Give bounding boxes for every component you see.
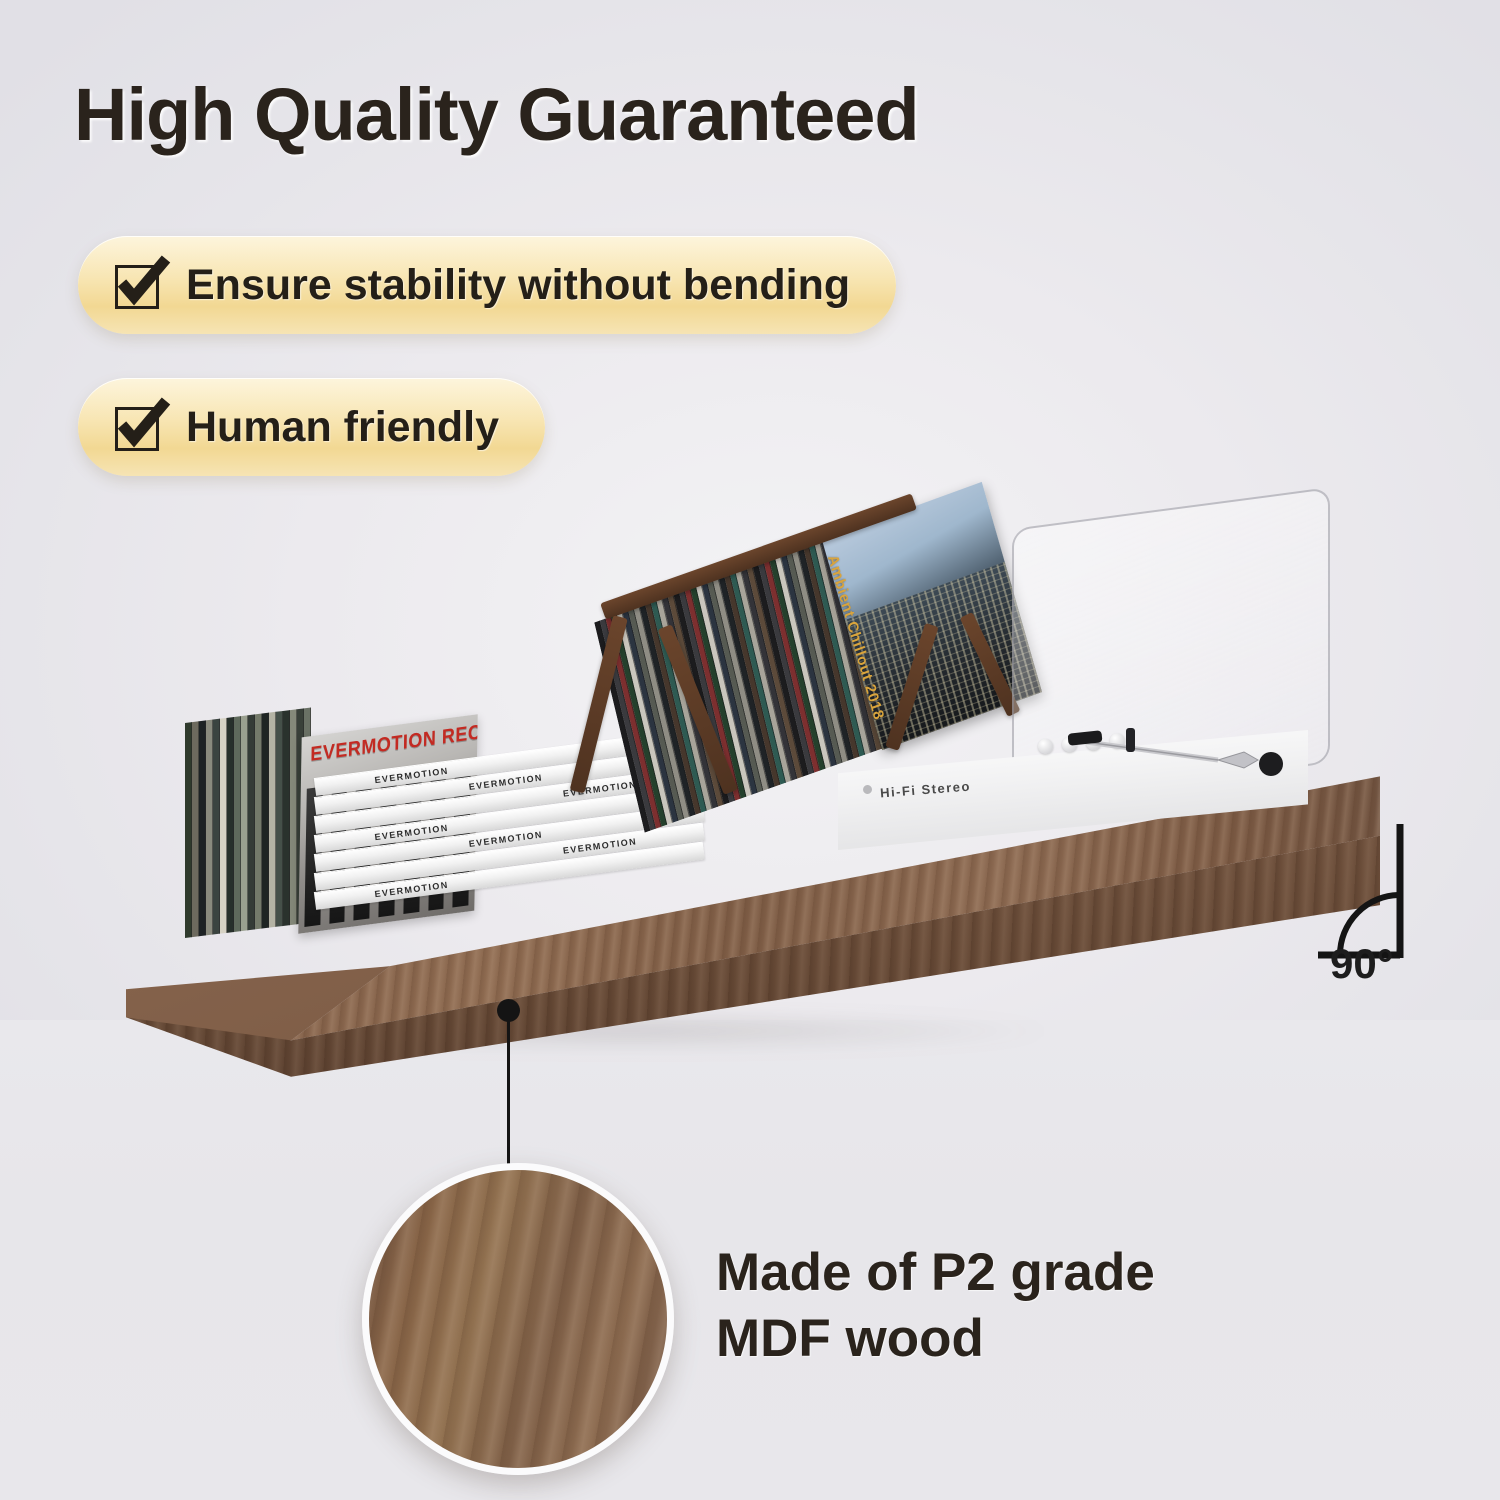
vinyl-sleeve xyxy=(283,710,290,926)
tonearm-icon xyxy=(1068,712,1298,782)
feature-badge-stability: Ensure stability without bending xyxy=(78,236,896,334)
checkbox-checked-icon xyxy=(112,259,164,311)
vinyl-sleeve xyxy=(290,709,297,925)
vinyl-sleeve xyxy=(199,720,206,936)
vinyl-sleeve xyxy=(213,719,220,935)
callout-caption-line-2: MDF wood xyxy=(716,1306,1155,1372)
vinyl-sleeve xyxy=(227,717,234,933)
vinyl-sleeve xyxy=(192,721,199,937)
vinyl-sleeve xyxy=(206,720,213,936)
vinyl-sleeve xyxy=(248,714,255,930)
feature-badge-label: Ensure stability without bending xyxy=(186,261,850,310)
vinyl-sleeve xyxy=(276,711,283,927)
callout-caption: Made of P2 grade MDF wood xyxy=(716,1240,1155,1373)
turntable: Hi-Fi Stereo xyxy=(838,730,1308,850)
vinyl-sleeve xyxy=(185,722,192,938)
vinyl-sleeve xyxy=(262,713,269,929)
vinyl-sleeve xyxy=(269,712,276,928)
product-scene: EVERMOTION RECORDS EVERMOTIONEVERMOTIONE… xyxy=(0,430,1500,1110)
magazine-spine-label: EVERMOTION xyxy=(374,880,449,900)
turntable-button-1[interactable] xyxy=(1038,738,1054,754)
vinyl-sleeve xyxy=(234,716,241,932)
callout-caption-line-1: Made of P2 grade xyxy=(716,1240,1155,1306)
angle-value-label: 90° xyxy=(1330,940,1394,988)
wood-grain-magnifier xyxy=(362,1163,674,1475)
vinyl-sleeve xyxy=(220,718,227,934)
vinyl-sleeve xyxy=(241,715,248,931)
page-title: High Quality Guaranteed xyxy=(74,72,919,157)
vinyl-sleeve xyxy=(255,714,262,930)
callout-leader-line xyxy=(507,1018,510,1176)
vinyl-sleeve-stack xyxy=(185,707,315,938)
